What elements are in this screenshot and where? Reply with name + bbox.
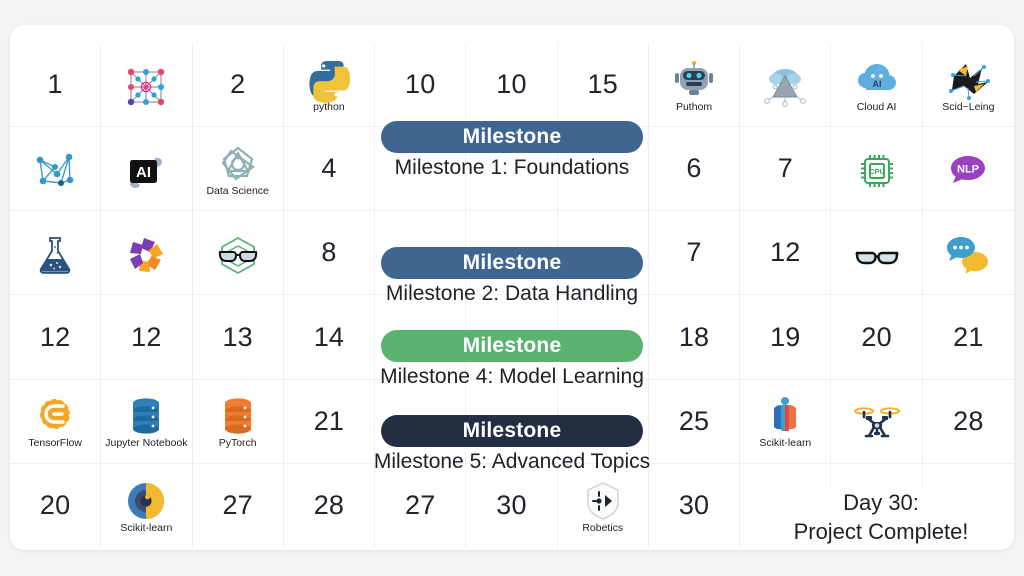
calendar-day-cell[interactable]: 12: [101, 295, 192, 379]
icon-wrap: [122, 63, 170, 107]
day-number: 12: [770, 239, 800, 266]
calendar-icon-cell[interactable]: AI: [101, 127, 192, 211]
network-graph-icon: [31, 147, 79, 191]
calendar-icon-cell[interactable]: [740, 43, 831, 127]
calendar-day-cell[interactable]: 19: [740, 295, 831, 379]
scikit-learn-circle-icon: [122, 477, 170, 521]
calendar-icon-cell[interactable]: [101, 43, 192, 127]
tensorflow-icon: [31, 392, 79, 436]
calendar-icon-cell[interactable]: [10, 211, 101, 295]
day-number: 21: [953, 324, 983, 351]
icon-wrap: Scikit-learn: [120, 477, 172, 535]
day-number: 7: [686, 239, 701, 266]
calendar-day-cell[interactable]: 10: [375, 43, 466, 127]
ai-badge-icon: AI: [122, 147, 170, 191]
day-number: 13: [222, 324, 252, 351]
milestone-pill-1[interactable]: Milestone: [381, 121, 643, 153]
icon-wrap: Jupyter Notebook: [105, 392, 187, 450]
icon-wrap: AI: [122, 147, 170, 191]
calendar-day-cell[interactable]: 28: [284, 464, 375, 548]
day-number: 21: [314, 408, 344, 435]
python-logo-icon: [305, 56, 353, 100]
day-number: 6: [686, 155, 701, 182]
calendar-icon-cell[interactable]: PyTorch: [193, 380, 284, 464]
day-number: 28: [314, 492, 344, 519]
day-number: 28: [953, 408, 983, 435]
calendar-day-cell[interactable]: 20: [10, 464, 101, 548]
icon-label: PyTorch: [219, 438, 257, 450]
cloud-ai-icon: AI: [853, 56, 901, 100]
icon-label: Scikit-learn: [759, 438, 811, 450]
calendar-day-cell[interactable]: 25: [649, 380, 740, 464]
glasses-hex-icon: [214, 231, 262, 275]
calendar-icon-cell[interactable]: AICloud AI: [831, 43, 922, 127]
calendar-day-cell[interactable]: 30: [649, 464, 740, 548]
icon-label: Scikit-learn: [120, 523, 172, 535]
day-number: 12: [40, 324, 70, 351]
icon-wrap: Puthom: [670, 56, 718, 114]
calendar-day-cell[interactable]: 20: [831, 295, 922, 379]
calendar-icon-cell[interactable]: Puthom: [649, 43, 740, 127]
calendar-icon-cell[interactable]: [923, 211, 1014, 295]
milestone-pill-2[interactable]: Milestone: [381, 247, 643, 279]
day-number: 4: [321, 155, 336, 182]
cpu-chip-icon: CPU: [853, 147, 901, 191]
icon-wrap: [853, 399, 901, 443]
icon-wrap: Robetics: [579, 477, 627, 535]
pytorch-database-icon: [214, 392, 262, 436]
calendar-icon-cell[interactable]: [10, 127, 101, 211]
calendar-icon-cell[interactable]: Jupyter Notebook: [101, 380, 192, 464]
calendar-icon-cell[interactable]: [101, 211, 192, 295]
calendar-day-cell[interactable]: 7: [649, 211, 740, 295]
calendar-icon-cell[interactable]: Scikit-learn: [740, 380, 831, 464]
icon-label: Puthom: [676, 102, 712, 114]
calendar-day-cell[interactable]: 28: [923, 380, 1014, 464]
icon-label: Cloud AI: [857, 102, 897, 114]
calendar-day-cell[interactable]: 21: [923, 295, 1014, 379]
icon-wrap: [31, 147, 79, 191]
scikit-learn-icon: [761, 392, 809, 436]
icon-wrap: AICloud AI: [853, 56, 901, 114]
icon-wrap: Data Science: [206, 140, 268, 198]
pinwheel-icon: [122, 231, 170, 275]
calendar-icon-cell[interactable]: [831, 211, 922, 295]
nlp-bubble-icon: NLP: [944, 147, 992, 191]
icon-wrap: python: [305, 56, 353, 114]
calendar-day-cell[interactable]: 18: [649, 295, 740, 379]
icon-wrap: Scikit-learn: [759, 392, 811, 450]
icon-label: Robetics: [582, 523, 623, 535]
day-number: 8: [321, 239, 336, 266]
day-number: 1: [48, 71, 63, 98]
icon-wrap: [122, 231, 170, 275]
calendar-icon-cell[interactable]: [193, 211, 284, 295]
day-number: 10: [496, 71, 526, 98]
calendar-day-cell[interactable]: 8: [284, 211, 375, 295]
calendar-day-cell[interactable]: 10: [466, 43, 557, 127]
svg-text:AI: AI: [136, 164, 151, 181]
calendar-day-cell[interactable]: 30: [466, 464, 557, 548]
robot-icon: [670, 56, 718, 100]
icon-label: Data Science: [206, 186, 268, 198]
icon-wrap: [944, 231, 992, 275]
day-number: 27: [405, 492, 435, 519]
calendar-day-cell[interactable]: 21: [284, 380, 375, 464]
calendar-day-cell[interactable]: 14: [284, 295, 375, 379]
calendar-icon-cell[interactable]: Scid~Leing: [923, 43, 1014, 127]
calendar-day-cell[interactable]: 13: [193, 295, 284, 379]
svg-text:AI: AI: [872, 79, 881, 89]
icon-label: TensorFlow: [28, 438, 82, 450]
day-number: 30: [496, 492, 526, 519]
calendar-day-cell[interactable]: 2: [193, 43, 284, 127]
day-number: 2: [230, 71, 245, 98]
drone-icon: [853, 399, 901, 443]
calendar-icon-cell[interactable]: Scikit-learn: [101, 464, 192, 548]
day-number: 20: [861, 324, 891, 351]
day30-line-2: Project Complete!: [794, 518, 969, 546]
svg-text:CPU: CPU: [869, 167, 885, 176]
milestone-pill-4[interactable]: Milestone: [381, 330, 643, 362]
icon-wrap: NLP: [944, 147, 992, 191]
icon-label: python: [313, 102, 345, 114]
calendar-day-cell[interactable]: 1: [10, 43, 101, 127]
day-number: 7: [778, 155, 793, 182]
calendar-icon-cell[interactable]: Data Science: [193, 127, 284, 211]
icon-wrap: [31, 231, 79, 275]
icon-label: Jupyter Notebook: [105, 438, 187, 450]
calendar-day-cell[interactable]: 4: [284, 127, 375, 211]
chat-bubbles-icon: [944, 231, 992, 275]
calendar-day-cell[interactable]: 27: [193, 464, 284, 548]
robotics-shield-icon: [579, 477, 627, 521]
svg-text:NLP: NLP: [957, 163, 979, 175]
calendar-icon-cell[interactable]: CPU: [831, 127, 922, 211]
cloud-network-icon: [761, 63, 809, 107]
day-number: 18: [679, 324, 709, 351]
day-number: 19: [770, 324, 800, 351]
day-number: 30: [679, 492, 709, 519]
jupyter-database-icon: [122, 392, 170, 436]
calendar-icon-cell[interactable]: TensorFlow: [10, 380, 101, 464]
icon-wrap: [853, 231, 901, 275]
calendar-icon-cell[interactable]: Robetics: [558, 464, 649, 548]
day-number: 25: [679, 408, 709, 435]
icon-wrap: Scid~Leing: [942, 56, 994, 114]
calendar-day-cell[interactable]: 12: [10, 295, 101, 379]
calendar-icon-cell[interactable]: python: [284, 43, 375, 127]
calendar-day-cell[interactable]: 7: [740, 127, 831, 211]
day-number: 10: [405, 71, 435, 98]
calendar-day-cell[interactable]: 12: [740, 211, 831, 295]
deep-learning-icon: [944, 56, 992, 100]
neural-network-icon: [122, 63, 170, 107]
icon-wrap: [761, 63, 809, 107]
flask-icon: [31, 231, 79, 275]
milestone-pill-5[interactable]: Milestone: [381, 415, 643, 447]
icon-wrap: CPU: [853, 147, 901, 191]
calendar-day-cell[interactable]: 6: [649, 127, 740, 211]
day-number: 14: [314, 324, 344, 351]
calendar-grid: 1 2 python101015 Puthom AICloud: [10, 43, 1014, 548]
icon-wrap: [214, 231, 262, 275]
day-number: 15: [588, 71, 618, 98]
data-science-knot-icon: [214, 140, 262, 184]
calendar-day-cell[interactable]: 15: [558, 43, 649, 127]
icon-label: Scid~Leing: [942, 102, 994, 114]
calendar-card: 1 2 python101015 Puthom AICloud: [10, 25, 1014, 550]
glasses-icon: [853, 231, 901, 275]
calendar-icon-cell[interactable]: NLP: [923, 127, 1014, 211]
calendar-icon-cell[interactable]: [831, 380, 922, 464]
day-number: 12: [131, 324, 161, 351]
calendar-day-cell[interactable]: 27: [375, 464, 466, 548]
day-number: 20: [40, 492, 70, 519]
day30-line-1: Day 30:: [843, 489, 919, 517]
icon-wrap: PyTorch: [214, 392, 262, 450]
icon-wrap: TensorFlow: [28, 392, 82, 450]
day30-complete-banner: Day 30: Project Complete!: [748, 487, 1014, 548]
day-number: 27: [222, 492, 252, 519]
